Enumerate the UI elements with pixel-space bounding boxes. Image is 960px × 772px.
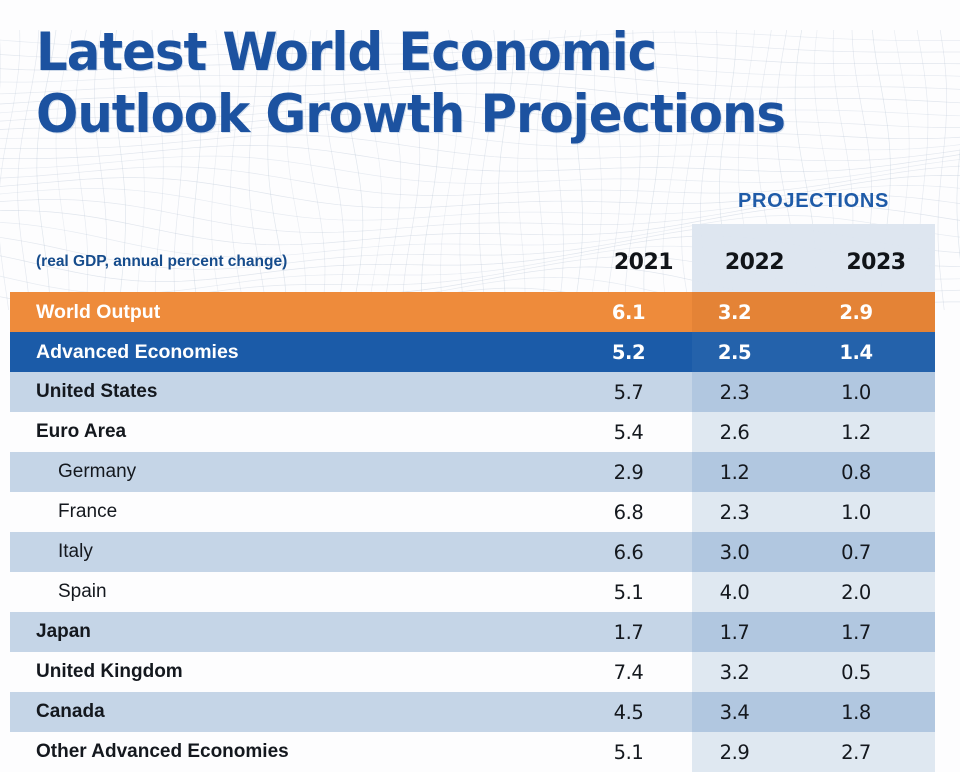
cell-2021: 5.4 <box>585 421 672 444</box>
table-row: Italy6.63.00.7 <box>10 532 935 572</box>
cell-2023: 1.0 <box>797 381 915 404</box>
cell-2022: 2.9 <box>672 741 797 764</box>
title-line-1: Latest World Economic <box>36 22 785 84</box>
table-row: Spain5.14.02.0 <box>10 572 935 612</box>
cell-2022: 3.2 <box>672 661 797 684</box>
row-label: Japan <box>10 621 585 643</box>
row-label: United States <box>10 381 585 403</box>
table-row: France6.82.31.0 <box>10 492 935 532</box>
slide-root: Latest World Economic Outlook Growth Pro… <box>0 0 960 772</box>
cell-2022: 1.7 <box>672 621 797 644</box>
title-line-2: Outlook Growth Projections <box>36 84 785 146</box>
cell-2023: 0.7 <box>797 541 915 564</box>
table-row: United Kingdom7.43.20.5 <box>10 652 935 692</box>
cell-2022: 3.4 <box>672 701 797 724</box>
column-header-2021: 2021 <box>595 250 692 275</box>
row-label: Canada <box>10 701 585 723</box>
cell-2021: 6.8 <box>585 501 672 524</box>
cell-2023: 2.9 <box>797 301 915 324</box>
cell-2023: 2.7 <box>797 741 915 764</box>
cell-2021: 6.1 <box>585 301 672 324</box>
row-label: Germany <box>10 461 585 483</box>
projections-table: World Output6.13.22.9Advanced Economies5… <box>10 292 935 772</box>
cell-2022: 2.3 <box>672 501 797 524</box>
row-label: Advanced Economies <box>10 341 585 364</box>
cell-2023: 0.8 <box>797 461 915 484</box>
table-row: World Output6.13.22.9 <box>10 292 935 332</box>
table-caption: (real GDP, annual percent change) <box>10 253 595 271</box>
cell-2021: 5.1 <box>585 741 672 764</box>
cell-2023: 1.7 <box>797 621 915 644</box>
cell-2021: 1.7 <box>585 621 672 644</box>
table-row: Canada4.53.41.8 <box>10 692 935 732</box>
cell-2021: 4.5 <box>585 701 672 724</box>
row-label: Spain <box>10 581 585 603</box>
cell-2022: 2.6 <box>672 421 797 444</box>
table-row: Euro Area5.42.61.2 <box>10 412 935 452</box>
cell-2022: 4.0 <box>672 581 797 604</box>
table-row: United States5.72.31.0 <box>10 372 935 412</box>
row-label: Other Advanced Economies <box>10 741 585 763</box>
column-header-2023: 2023 <box>817 250 935 275</box>
cell-2021: 5.2 <box>585 341 672 364</box>
row-label: United Kingdom <box>10 661 585 683</box>
cell-2022: 1.2 <box>672 461 797 484</box>
cell-2022: 2.5 <box>672 341 797 364</box>
table-header-row: (real GDP, annual percent change) 2021 2… <box>10 240 935 284</box>
cell-2022: 3.0 <box>672 541 797 564</box>
cell-2023: 1.2 <box>797 421 915 444</box>
table-row: Germany2.91.20.8 <box>10 452 935 492</box>
cell-2022: 3.2 <box>672 301 797 324</box>
page-title: Latest World Economic Outlook Growth Pro… <box>36 22 833 146</box>
cell-2021: 7.4 <box>585 661 672 684</box>
cell-2023: 1.8 <box>797 701 915 724</box>
cell-2021: 6.6 <box>585 541 672 564</box>
cell-2021: 5.7 <box>585 381 672 404</box>
row-label: Euro Area <box>10 421 585 443</box>
cell-2023: 1.0 <box>797 501 915 524</box>
projections-heading: PROJECTIONS <box>692 190 935 213</box>
row-label: Italy <box>10 541 585 563</box>
table-row: Japan1.71.71.7 <box>10 612 935 652</box>
cell-2023: 2.0 <box>797 581 915 604</box>
table-row: Other Advanced Economies5.12.92.7 <box>10 732 935 772</box>
cell-2023: 0.5 <box>797 661 915 684</box>
cell-2023: 1.4 <box>797 341 915 364</box>
table-row: Advanced Economies5.22.51.4 <box>10 332 935 372</box>
cell-2022: 2.3 <box>672 381 797 404</box>
row-label: World Output <box>10 301 585 324</box>
cell-2021: 2.9 <box>585 461 672 484</box>
row-label: France <box>10 501 585 523</box>
cell-2021: 5.1 <box>585 581 672 604</box>
column-header-2022: 2022 <box>692 250 817 275</box>
